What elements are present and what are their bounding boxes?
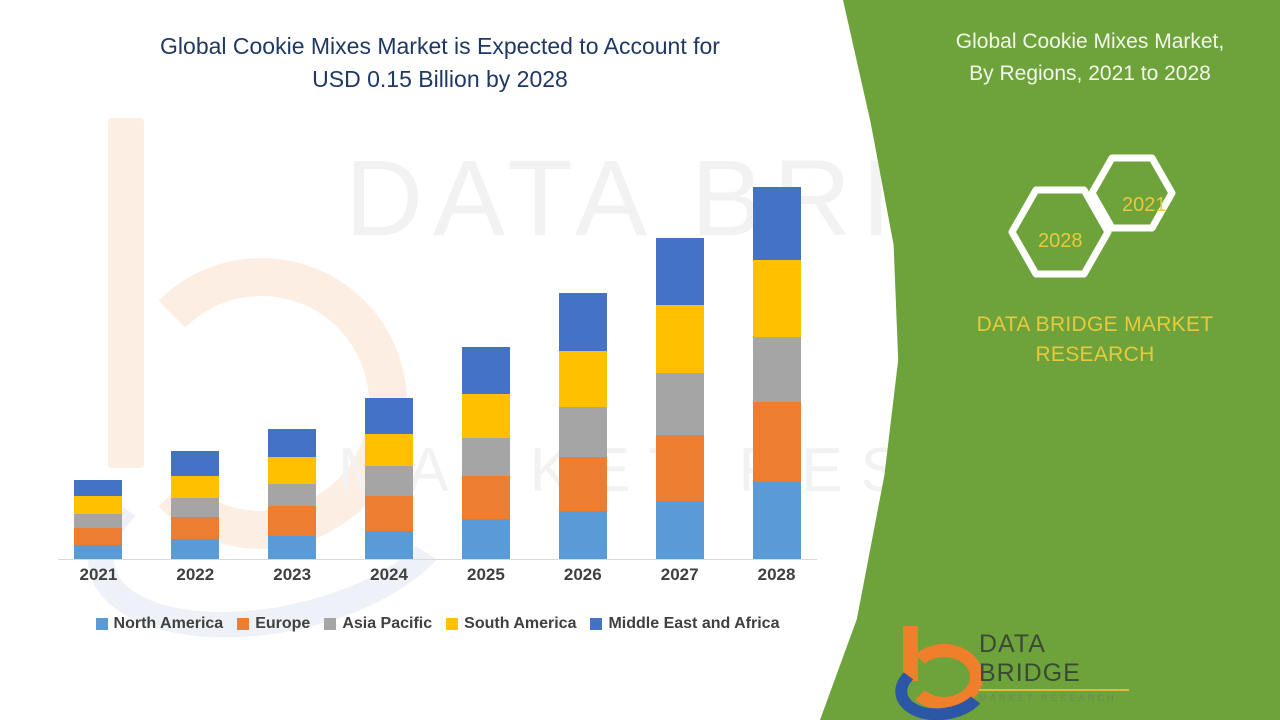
bar-slot	[631, 164, 728, 559]
bar-slot	[438, 164, 535, 559]
legend-swatch-icon	[237, 618, 249, 630]
bar-segment[interactable]	[365, 496, 413, 531]
x-axis-label-2027: 2027	[631, 565, 728, 585]
bar-segment[interactable]	[656, 501, 704, 559]
bar-segment[interactable]	[171, 539, 219, 559]
brand-name-line2: RESEARCH	[930, 340, 1260, 370]
x-axis-label-2023: 2023	[244, 565, 341, 585]
panel-title-line2: By Regions, 2021 to 2028	[900, 58, 1280, 90]
plot-area	[50, 150, 825, 560]
stacked-bar-2021[interactable]	[74, 480, 122, 559]
data-bridge-mark-icon	[895, 626, 973, 696]
x-axis-line	[58, 559, 817, 560]
bar-segment[interactable]	[559, 457, 607, 511]
x-axis-label-2024: 2024	[341, 565, 438, 585]
bar-segment[interactable]	[753, 187, 801, 260]
legend-label: North America	[114, 615, 224, 633]
bar-slot	[341, 164, 438, 559]
bar-segment[interactable]	[365, 531, 413, 559]
bar-segment[interactable]	[74, 480, 122, 496]
bar-segment[interactable]	[753, 402, 801, 482]
stacked-bar-2022[interactable]	[171, 451, 219, 559]
bar-segment[interactable]	[268, 429, 316, 457]
bar-segment[interactable]	[74, 545, 122, 559]
bar-group	[50, 164, 825, 559]
stacked-bar-2028[interactable]	[753, 187, 801, 559]
hexagon-badges: 2021 2028	[1004, 150, 1224, 280]
chart-legend: North AmericaEuropeAsia PacificSouth Ame…	[50, 615, 825, 633]
slide-canvas: DATA BRIDGE MARKET RESEARCH Global Cooki…	[0, 0, 1280, 720]
x-axis-label-2026: 2026	[534, 565, 631, 585]
stacked-bar-2024[interactable]	[365, 398, 413, 559]
logo-rule	[979, 689, 1129, 691]
stacked-bar-chart: 20212022202320242025202620272028	[50, 150, 825, 560]
bar-segment[interactable]	[268, 536, 316, 559]
bar-segment[interactable]	[365, 466, 413, 496]
bar-segment[interactable]	[656, 435, 704, 501]
brand-name: DATA BRIDGE MARKET RESEARCH	[930, 310, 1260, 371]
legend-swatch-icon	[590, 618, 602, 630]
x-axis-label-2028: 2028	[728, 565, 825, 585]
bar-segment[interactable]	[74, 496, 122, 514]
bar-segment[interactable]	[753, 482, 801, 559]
bar-slot	[728, 164, 825, 559]
legend-label: South America	[464, 615, 576, 633]
legend-label: Europe	[255, 615, 310, 633]
stacked-bar-2027[interactable]	[656, 238, 704, 559]
chart-title-line1: Global Cookie Mixes Market is Expected t…	[60, 30, 820, 63]
hexagon-outlines-icon	[1004, 150, 1224, 280]
bar-segment[interactable]	[656, 305, 704, 373]
bar-slot	[534, 164, 631, 559]
legend-swatch-icon	[324, 618, 336, 630]
bar-segment[interactable]	[559, 511, 607, 559]
bar-segment[interactable]	[559, 351, 607, 407]
bar-segment[interactable]	[462, 519, 510, 559]
logo-wordmark: DATA BRIDGE MARKET RESEARCH	[979, 630, 1129, 703]
legend-item[interactable]: North America	[96, 615, 224, 633]
x-axis-label-2021: 2021	[50, 565, 147, 585]
bar-segment[interactable]	[268, 484, 316, 506]
legend-item[interactable]: South America	[446, 615, 576, 633]
bar-segment[interactable]	[753, 260, 801, 337]
bar-segment[interactable]	[365, 434, 413, 466]
chart-title: Global Cookie Mixes Market is Expected t…	[60, 30, 820, 97]
bar-segment[interactable]	[268, 457, 316, 484]
hex-label-2021: 2021	[1122, 194, 1167, 217]
bar-segment[interactable]	[171, 498, 219, 517]
logo-wordmark-main: DATA BRIDGE	[979, 630, 1129, 688]
stacked-bar-2025[interactable]	[462, 347, 510, 559]
bar-segment[interactable]	[74, 514, 122, 528]
legend-label: Middle East and Africa	[608, 615, 779, 633]
stacked-bar-2026[interactable]	[559, 293, 607, 559]
bar-segment[interactable]	[656, 373, 704, 435]
panel-title: Global Cookie Mixes Market, By Regions, …	[900, 26, 1280, 89]
hex-label-2028: 2028	[1038, 230, 1083, 253]
x-axis-label-2022: 2022	[147, 565, 244, 585]
brand-name-line1: DATA BRIDGE MARKET	[930, 310, 1260, 340]
x-axis-label-2025: 2025	[438, 565, 535, 585]
bar-segment[interactable]	[462, 347, 510, 394]
legend-label: Asia Pacific	[342, 615, 432, 633]
bar-slot	[50, 164, 147, 559]
bar-segment[interactable]	[171, 451, 219, 476]
bar-segment[interactable]	[74, 528, 122, 545]
bar-segment[interactable]	[365, 398, 413, 434]
logo-wordmark-sub: MARKET RESEARCH	[979, 693, 1129, 703]
legend-item[interactable]: Middle East and Africa	[590, 615, 779, 633]
bar-segment[interactable]	[268, 506, 316, 536]
x-axis-labels: 20212022202320242025202620272028	[50, 565, 825, 585]
bar-segment[interactable]	[462, 476, 510, 519]
legend-swatch-icon	[446, 618, 458, 630]
bar-slot	[244, 164, 341, 559]
bar-segment[interactable]	[753, 337, 801, 402]
panel-title-line1: Global Cookie Mixes Market,	[900, 26, 1280, 58]
bar-segment[interactable]	[171, 517, 219, 539]
stacked-bar-2023[interactable]	[268, 429, 316, 559]
bar-segment[interactable]	[171, 476, 219, 498]
legend-item[interactable]: Asia Pacific	[324, 615, 432, 633]
bar-slot	[147, 164, 244, 559]
bar-segment[interactable]	[462, 394, 510, 438]
legend-swatch-icon	[96, 618, 108, 630]
bar-segment[interactable]	[559, 407, 607, 457]
bar-segment[interactable]	[559, 293, 607, 351]
chart-title-line2: USD 0.15 Billion by 2028	[60, 63, 820, 96]
bar-segment[interactable]	[462, 438, 510, 476]
legend-item[interactable]: Europe	[237, 615, 310, 633]
data-bridge-logo: DATA BRIDGE MARKET RESEARCH	[895, 622, 1130, 700]
bar-segment[interactable]	[656, 238, 704, 305]
